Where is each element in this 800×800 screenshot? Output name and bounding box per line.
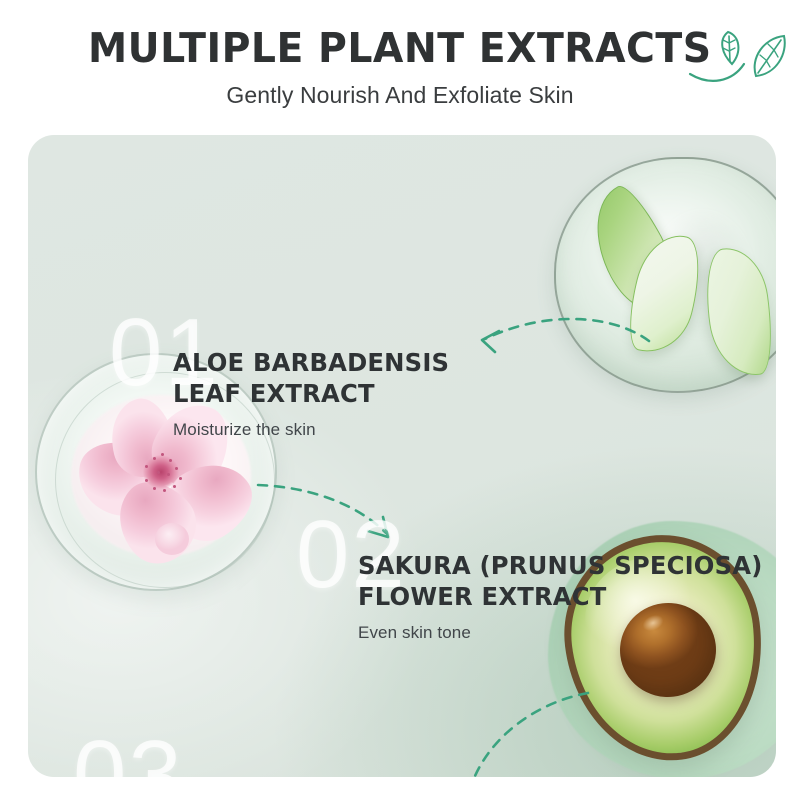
flower-stamens [125, 443, 201, 507]
page-title-row: MULTIPLE PLANT EXTRACTS [0, 24, 800, 72]
ingredient-entry-1: 01 ALOE BARBADENSIS LEAF EXTRACT Moistur… [173, 348, 458, 440]
ingredients-panel: 01 ALOE BARBADENSIS LEAF EXTRACT Moistur… [28, 135, 776, 777]
page-title: MULTIPLE PLANT EXTRACTS [88, 24, 712, 72]
ingredient-title-1: ALOE BARBADENSIS LEAF EXTRACT [173, 348, 449, 409]
aloe-vera-slices-dish-image [548, 147, 776, 395]
ingredient-title-2: SAKURA (PRUNUS SPECIOSA) FLOWER EXTRACT [358, 551, 763, 612]
ingredient-title-3: SHEA BUTTER (BUTYROSPERMUM PARKII) [135, 773, 510, 777]
ingredient-benefit-1: Moisturize the skin [173, 420, 458, 440]
ingredient-number-3: 03 [73, 727, 184, 777]
petal-highlight [155, 523, 189, 555]
ingredient-entry-2: 02 SAKURA (PRUNUS SPECIOSA) FLOWER EXTRA… [358, 551, 775, 643]
ingredient-benefit-2: Even skin tone [358, 623, 775, 643]
ingredient-entry-3: 03 SHEA BUTTER (BUTYROSPERMUM PARKII) En… [135, 773, 521, 777]
page-subtitle: Gently Nourish And Exfoliate Skin [0, 82, 800, 109]
header: MULTIPLE PLANT EXTRACTS Gently Nourish A… [0, 0, 800, 135]
petri-dish [554, 157, 776, 393]
